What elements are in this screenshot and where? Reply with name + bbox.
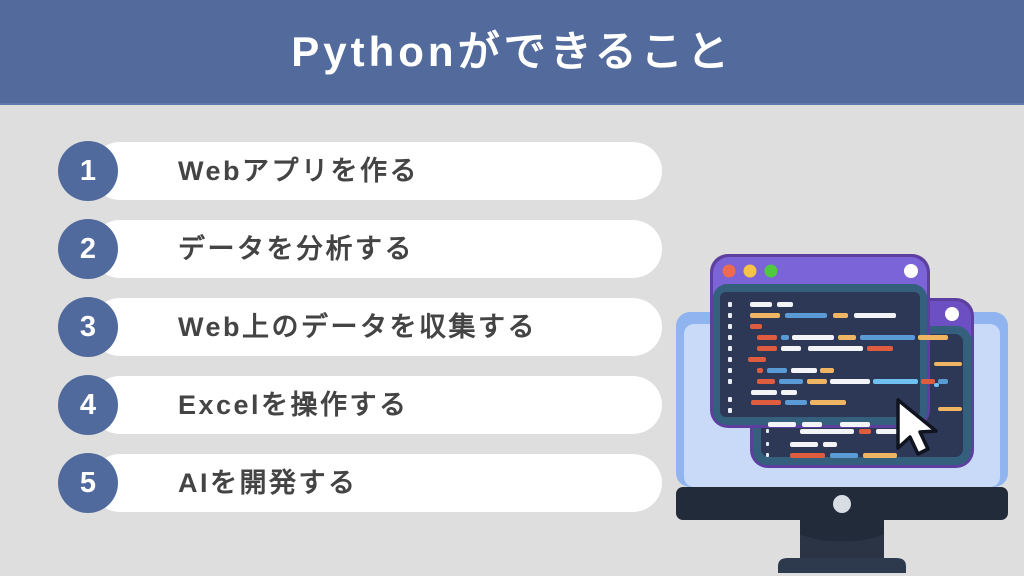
list-item-number: 1 (80, 157, 96, 186)
window-minimize-icon (744, 265, 757, 278)
feature-list: Webアプリを作る 1 データを分析する 2 Web上のデータを収集する 3 E… (0, 105, 700, 576)
list-item[interactable]: Webアプリを作る 1 (58, 142, 662, 200)
list-item-pill[interactable]: AIを開発する (91, 454, 662, 512)
list-item-label: Excelを操作する (178, 392, 409, 419)
monitor-illustration (660, 240, 1024, 576)
list-item[interactable]: AIを開発する 5 (58, 454, 662, 512)
list-item[interactable]: Web上のデータを収集する 3 (58, 298, 662, 356)
list-item-pill[interactable]: Excelを操作する (91, 376, 662, 434)
list-item-label: Web上のデータを収集する (178, 314, 537, 341)
front-code-window[interactable] (710, 254, 948, 428)
window-dot-icon (904, 264, 918, 278)
list-item-pill[interactable]: データを分析する (91, 220, 662, 278)
list-item-pill[interactable]: Webアプリを作る (91, 142, 662, 200)
monitor-base (676, 487, 1008, 573)
list-item-badge: 1 (58, 141, 118, 201)
list-item-badge: 2 (58, 219, 118, 279)
list-item-badge: 4 (58, 375, 118, 435)
list-item-pill[interactable]: Web上のデータを収集する (91, 298, 662, 356)
power-button-icon (833, 495, 851, 513)
list-item[interactable]: データを分析する 2 (58, 220, 662, 278)
list-item-number: 3 (80, 313, 96, 342)
list-item[interactable]: Excelを操作する 4 (58, 376, 662, 434)
window-maximize-icon (765, 265, 778, 278)
list-item-number: 2 (80, 235, 96, 264)
list-item-label: AIを開発する (178, 470, 358, 497)
list-item-label: データを分析する (178, 236, 414, 263)
list-item-badge: 3 (58, 297, 118, 357)
list-item-badge: 5 (58, 453, 118, 513)
page-title: Pythonができること (291, 31, 733, 73)
list-item-number: 4 (80, 391, 96, 420)
header-bar: Pythonができること (0, 0, 1024, 105)
window-dot-icon (945, 307, 959, 321)
window-close-icon (723, 265, 736, 278)
list-item-label: Webアプリを作る (178, 158, 419, 185)
list-item-number: 5 (80, 469, 96, 498)
